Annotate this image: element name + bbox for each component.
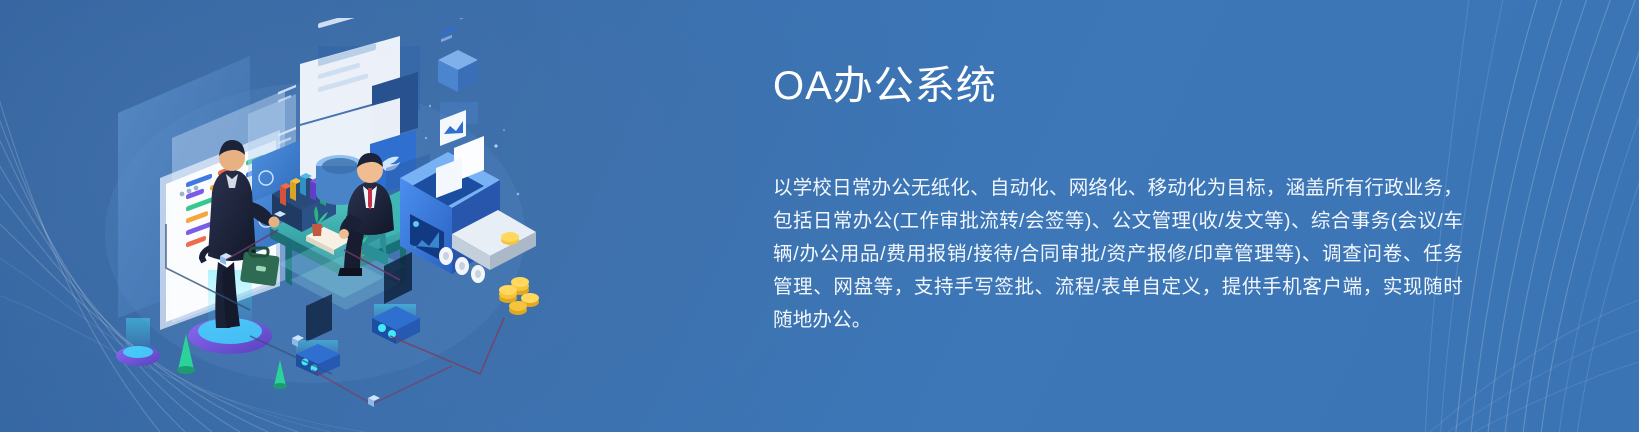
isometric-office-automation-illustration (100, 18, 550, 418)
oa-system-banner: OA办公系统 以学校日常办公无纸化、自动化、网络化、移动化为目标，涵盖所有行政业… (0, 0, 1639, 432)
page-title: OA办公系统 (773, 62, 1463, 110)
banner-copy: OA办公系统 以学校日常办公无纸化、自动化、网络化、移动化为目标，涵盖所有行政业… (773, 62, 1463, 337)
floating-cube (438, 50, 478, 124)
page-description: 以学校日常办公无纸化、自动化、网络化、移动化为目标，涵盖所有行政业务，包括日常办… (773, 172, 1463, 337)
